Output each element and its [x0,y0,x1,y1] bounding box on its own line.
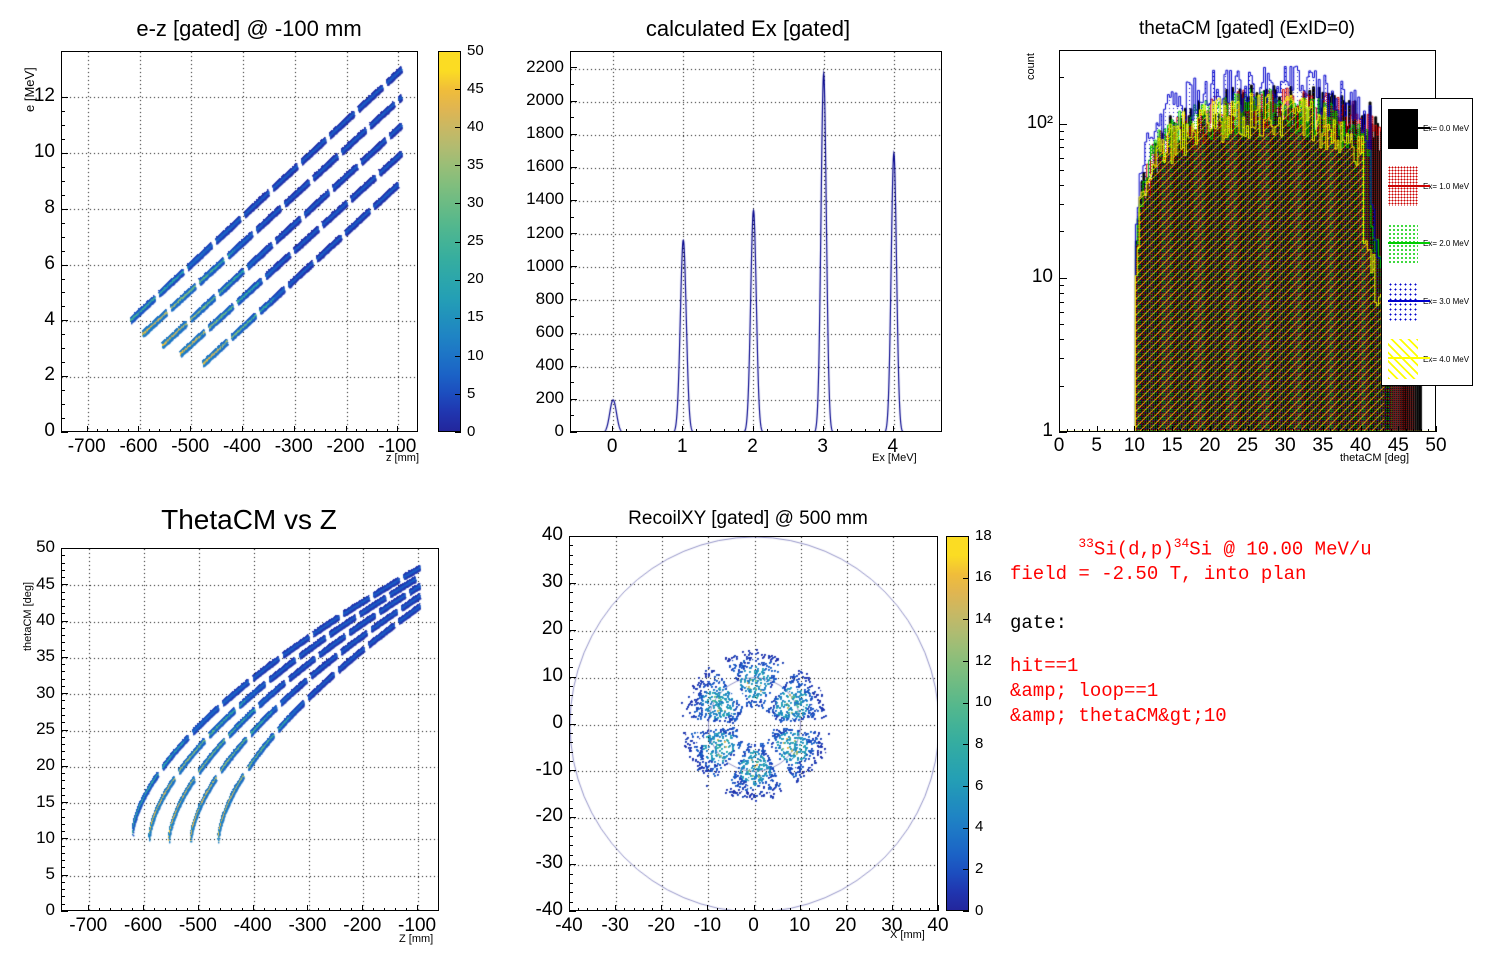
x-minor-tick [165,908,166,911]
x-tick [1361,426,1362,432]
y-tick-label: 10 [1007,266,1053,288]
y-minor-tick [569,742,573,743]
x-tick [242,426,243,432]
y-tick [61,875,68,876]
y-minor-tick [61,867,65,868]
y-minor-tick [61,195,65,196]
x-tick-label: 40 [908,915,968,937]
x-minor-tick [652,908,653,911]
y-minor-tick [569,686,573,687]
y-minor-tick [569,789,573,790]
x-minor-tick [763,908,764,911]
y-tick [61,320,68,321]
y-tick [570,432,577,433]
x-minor-tick [264,908,265,911]
x-minor-tick [1278,429,1279,432]
y-tick-label: 4 [0,309,55,331]
y-minor-tick [61,809,65,810]
y-minor-tick [61,577,65,578]
y-minor-tick [570,217,574,218]
x-minor-tick [1217,429,1218,432]
x-minor-tick [335,429,336,432]
y-minor-tick [61,181,65,182]
x-minor-tick [1225,429,1226,432]
y-minor-tick [1059,293,1064,294]
y-minor-tick [569,902,573,903]
x-minor-tick [373,908,374,911]
y-tick-label: 1800 [508,123,564,143]
x-minor-tick [406,908,407,911]
y-tick-label: 8 [0,197,55,219]
panel-e-z-plot-frame [61,51,418,432]
y-minor-tick [61,664,65,665]
y-minor-tick [61,555,65,556]
info-reaction-sup-1: 33 [1078,536,1094,551]
info-reaction-sup-2: 34 [1174,536,1190,551]
x-minor-tick [231,908,232,911]
y-tick-label: 2000 [508,90,564,110]
y-tick-label: 10 [0,141,55,163]
x-tick [846,905,847,911]
legend-item-0: Ex= 0.0 MeV [1388,107,1472,151]
y-tick-label: 25 [0,719,55,739]
panel-calculated-ex: calculated Ex [gated] Ex [MeV] 012340200… [498,0,998,486]
x-minor-tick [710,429,711,432]
colorbar-tick [455,203,461,204]
y-minor-tick [61,570,65,571]
y-tick [570,299,577,300]
x-minor-tick [1104,429,1105,432]
y-tick [569,864,576,865]
x-minor-tick [97,429,98,432]
colorbar-tick [455,432,461,433]
x-minor-tick [767,429,768,432]
x-minor-tick [283,429,284,432]
y-minor-tick [569,620,573,621]
y-minor-tick [61,334,65,335]
y-tick [569,770,576,771]
y-minor-tick [1059,324,1064,325]
y-minor-tick [61,853,65,854]
y-minor-tick [569,564,573,565]
y-minor-tick [61,671,65,672]
y-tick-label: 40 [0,610,55,630]
y-tick [61,838,68,839]
x-minor-tick [384,908,385,911]
y-tick-label: 10² [1007,112,1053,133]
x-tick [1436,426,1437,432]
y-tick [1059,432,1067,433]
x-minor-tick [170,429,171,432]
x-minor-tick [578,908,579,911]
y-tick-label: 2 [0,364,55,386]
x-minor-tick [1270,429,1271,432]
x-tick [1323,426,1324,432]
x-minor-tick [242,908,243,911]
y-tick [569,630,576,631]
y-minor-tick [570,415,574,416]
panel-e-z: e-z [gated] @ -100 mm e [MeV] z [mm] -70… [0,0,498,486]
y-minor-tick [1059,231,1064,232]
y-minor-tick [1059,147,1064,148]
x-minor-tick [626,429,627,432]
x-minor-tick [1119,429,1120,432]
colorbar-tick [963,911,969,912]
x-minor-tick [1232,429,1233,432]
x-minor-tick [118,429,119,432]
y-minor-tick [1059,339,1064,340]
x-tick [707,905,708,911]
y-tick-label: 2200 [508,57,564,77]
y-tick [570,134,577,135]
x-tick-label: 0 [582,436,642,458]
x-minor-tick [738,429,739,432]
panel-thetacm-hist-data [1060,51,1436,432]
y-minor-tick [61,362,65,363]
y-minor-tick [61,650,65,651]
y-tick [1059,278,1067,279]
x-minor-tick [149,429,150,432]
x-minor-tick [1338,429,1339,432]
y-tick [61,766,68,767]
x-tick [893,426,894,432]
colorbar-tick [455,394,461,395]
x-tick [190,426,191,432]
y-minor-tick [61,744,65,745]
x-tick [892,905,893,911]
y-minor-tick [569,752,573,753]
x-minor-tick [654,429,655,432]
x-minor-tick [314,429,315,432]
y-minor-tick [1059,170,1064,171]
x-minor-tick [1263,429,1264,432]
x-minor-tick [790,908,791,911]
x-tick [397,426,398,432]
y-tick [61,730,68,731]
x-tick [417,905,418,911]
x-minor-tick [640,429,641,432]
x-minor-tick [597,908,598,911]
x-tick-label: -200 [332,915,392,937]
x-minor-tick [668,429,669,432]
y-tick-label: 10 [507,665,563,687]
x-minor-tick [864,908,865,911]
panel-recoil-xy-colorbar [946,536,969,911]
y-minor-tick [61,824,65,825]
y-tick [569,583,576,584]
x-minor-tick [818,908,819,911]
y-tick [569,817,576,818]
x-tick [346,426,347,432]
x-minor-tick [910,908,911,911]
y-tick [569,677,576,678]
y-minor-tick [570,349,574,350]
x-minor-tick [1142,429,1143,432]
x-minor-tick [263,429,264,432]
y-minor-tick [569,639,573,640]
x-minor-tick [901,908,902,911]
x-minor-tick [1428,429,1429,432]
y-tick-label: 15 [0,792,55,812]
info-gate-line-1: &amp; loop==1 [1010,680,1158,702]
x-minor-tick [606,908,607,911]
y-tick [569,536,576,537]
x-tick [1210,426,1211,432]
x-tick [1097,426,1098,432]
y-tick [570,101,577,102]
x-minor-tick [781,908,782,911]
x-tick [938,905,939,911]
y-minor-tick [569,808,573,809]
x-tick [1172,426,1173,432]
x-minor-tick [329,908,330,911]
x-minor-tick [1067,429,1068,432]
x-minor-tick [121,908,122,911]
y-minor-tick [1059,77,1064,78]
colorbar-tick [963,744,969,745]
y-minor-tick [1059,204,1064,205]
x-minor-tick [110,908,111,911]
colorbar-tick [455,51,461,52]
info-reaction-post: Si @ 10.00 MeV/u [1189,538,1371,560]
x-minor-tick [1346,429,1347,432]
x-minor-tick [1315,429,1316,432]
x-tick [754,905,755,911]
x-tick [253,905,254,911]
x-tick-label: -700 [58,915,118,937]
info-gate-line-0: hit==1 [1010,655,1078,677]
x-minor-tick [286,908,287,911]
y-tick [61,911,68,912]
panel-recoil-xy-title: RecoilXY [gated] @ 500 mm [498,508,998,530]
x-minor-tick [1413,429,1414,432]
y-tick-label: 45 [0,574,55,594]
y-minor-tick [61,817,65,818]
colorbar-tick [455,242,461,243]
x-minor-tick [1406,429,1407,432]
x-minor-tick [1187,429,1188,432]
y-tick-label: 6 [0,253,55,275]
x-minor-tick [1157,429,1158,432]
x-tick-label: 4 [863,436,923,458]
y-minor-tick [569,733,573,734]
x-minor-tick [1240,429,1241,432]
x-minor-tick [209,908,210,911]
x-minor-tick [744,908,745,911]
x-minor-tick [717,908,718,911]
y-minor-tick [569,855,573,856]
x-tick [1248,426,1249,432]
root-canvas: e-z [gated] @ -100 mm e [MeV] z [mm] -70… [0,0,1496,972]
y-tick-label: 40 [507,524,563,546]
x-tick [88,905,89,911]
x-tick-label: -500 [168,915,228,937]
x-tick [1059,426,1060,432]
panel-recoil-xy: RecoilXY [gated] @ 500 mm X [mm] -40-30-… [498,486,998,972]
x-minor-tick [865,429,866,432]
y-tick-label: 0 [508,421,564,441]
x-minor-tick [366,429,367,432]
panel-thetacm-hist-plot-frame [1059,50,1436,432]
y-minor-tick [61,708,65,709]
x-minor-tick [873,908,874,911]
x-minor-tick [809,908,810,911]
x-minor-tick [1368,429,1369,432]
x-minor-tick [855,908,856,911]
y-minor-tick [61,599,65,600]
y-minor-tick [61,751,65,752]
y-minor-tick [569,602,573,603]
panel-e-z-title: e-z [gated] @ -100 mm [0,16,498,42]
y-tick-label: 12 [0,85,55,107]
y-minor-tick [570,382,574,383]
x-minor-tick [201,429,202,432]
x-tick [87,426,88,432]
y-tick-label: 1200 [508,223,564,243]
y-tick-label: 20 [507,618,563,640]
x-minor-tick [351,908,352,911]
y-tick-label: 0 [0,420,55,442]
y-minor-tick [569,649,573,650]
y-tick-label: 30 [0,683,55,703]
y-minor-tick [569,827,573,828]
y-minor-tick [61,780,65,781]
y-tick [61,153,68,154]
x-minor-tick [735,908,736,911]
y-tick-label: -40 [507,899,563,921]
y-minor-tick [569,592,573,593]
legend-item-1: Ex= 1.0 MeV [1388,165,1472,209]
y-minor-tick [61,795,65,796]
colorbar-tick [963,619,969,620]
x-minor-tick [624,908,625,911]
x-minor-tick [1330,429,1331,432]
y-minor-tick [61,679,65,680]
y-tick [570,366,577,367]
y-tick [569,724,576,725]
x-tick [1398,426,1399,432]
y-minor-tick [61,686,65,687]
y-minor-tick [569,799,573,800]
y-minor-tick [61,860,65,861]
y-minor-tick [570,84,574,85]
x-minor-tick [1383,429,1384,432]
x-minor-tick [221,429,222,432]
panel-calculated-ex-plot-frame [570,51,942,432]
panel-thetacm-vs-z-title: ThetaCM vs Z [0,504,498,536]
y-minor-tick [569,658,573,659]
y-minor-tick [570,150,574,151]
x-minor-tick [304,429,305,432]
x-tick [661,905,662,911]
x-tick-label: -400 [223,915,283,937]
x-minor-tick [159,429,160,432]
colorbar-tick [455,356,461,357]
y-minor-tick [61,251,65,252]
y-tick [61,657,68,658]
x-minor-tick [1112,429,1113,432]
y-minor-tick [61,306,65,307]
y-minor-tick [1059,312,1064,313]
y-minor-tick [569,574,573,575]
panel-e-z-data [62,52,418,432]
x-minor-tick [1180,429,1181,432]
x-minor-tick [1074,429,1075,432]
x-minor-tick [1255,429,1256,432]
panel-thetacm-hist-legend: Ex= 0.0 MeVEx= 1.0 MeVEx= 2.0 MeVEx= 3.0… [1381,98,1473,386]
y-minor-tick [61,628,65,629]
y-tick [61,97,68,98]
y-minor-tick [569,611,573,612]
y-minor-tick [61,404,65,405]
panel-recoil-xy-data [570,537,938,911]
x-minor-tick [920,908,921,911]
x-minor-tick [837,429,838,432]
y-minor-tick [1059,302,1064,303]
x-tick [615,905,616,911]
y-tick-label: 400 [508,355,564,375]
y-minor-tick [569,836,573,837]
panel-thetacm-hist-ylabel: count [1025,53,1037,80]
x-tick-label: 3 [793,436,853,458]
x-minor-tick [643,908,644,911]
x-minor-tick [1376,429,1377,432]
y-minor-tick [61,125,65,126]
y-tick [570,200,577,201]
y-tick [61,376,68,377]
y-tick-label: 600 [508,322,564,342]
y-tick-label: 200 [508,388,564,408]
x-minor-tick [851,429,852,432]
y-tick [569,911,576,912]
y-tick-label: 800 [508,289,564,309]
y-minor-tick [61,759,65,760]
x-minor-tick [395,908,396,911]
y-minor-tick [61,889,65,890]
x-tick [294,426,295,432]
y-tick [61,209,68,210]
x-minor-tick [387,429,388,432]
y-tick-label: 5 [0,864,55,884]
x-minor-tick [795,429,796,432]
y-minor-tick [569,555,573,556]
x-tick-label: 50 [1411,435,1461,457]
y-tick-label: 1600 [508,156,564,176]
y-minor-tick [61,722,65,723]
y-minor-tick [570,183,574,184]
x-minor-tick [772,908,773,911]
panel-recoil-xy-plot-frame [569,536,938,911]
panel-thetacm-hist: thetaCM [gated] (ExID=0) count thetaCM [… [998,0,1496,486]
y-tick [570,399,577,400]
panel-thetacm-vs-z: ThetaCM vs Z thetaCM [deg] Z [mm] -700-6… [0,486,498,972]
x-minor-tick [252,429,253,432]
y-minor-tick [61,167,65,168]
y-tick [61,432,68,433]
y-tick-label: 20 [0,755,55,775]
legend-line-3 [1388,300,1430,302]
y-minor-tick [61,390,65,391]
x-minor-tick [809,429,810,432]
y-tick [570,266,577,267]
y-minor-tick [61,773,65,774]
y-minor-tick [61,882,65,883]
y-tick-label: 0 [507,712,563,734]
x-tick [198,905,199,911]
panel-thetacm-hist-title: thetaCM [gated] (ExID=0) [998,18,1496,40]
x-tick [800,905,801,911]
y-minor-tick [61,139,65,140]
